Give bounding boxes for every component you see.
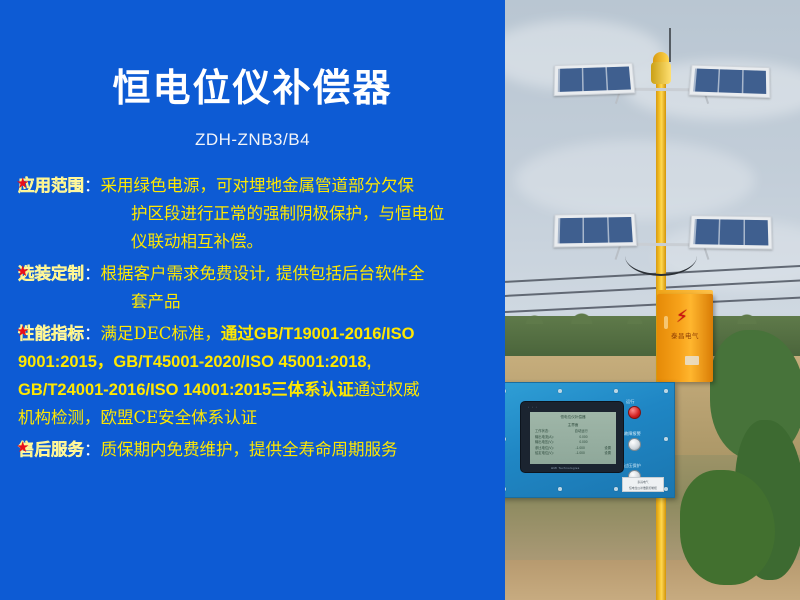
bullet-first-line: 应用范围：采用绿色电源，可对埋地金属管道部分欠保	[18, 172, 483, 200]
hmi-brand-label: HMI Technologies	[551, 466, 580, 470]
standard-text: 9001:2015，GB/T45001-2020/ISO 45001:2018,	[18, 348, 483, 376]
hmi-touchscreen[interactable]: • • • 恒电位仪补偿器 主界面 工作状态： 自动运行 输出电流(A)： 0.…	[520, 401, 624, 473]
bullet-text: 采用绿色电源，可对埋地金属管道部分欠保	[101, 176, 415, 195]
bullet-colon: ：	[84, 324, 101, 343]
product-photo: ⚡ 泰昌电气 • • • 恒电位仪补偿器 主界面	[505, 0, 800, 600]
nameplate-line-2: 恒电位仪补偿器控制柜	[623, 484, 663, 490]
solar-panel	[689, 65, 771, 98]
solar-cells	[693, 68, 766, 93]
panel-screw	[558, 389, 562, 393]
bullet-text: 护区段进行正常的强制阴极保护，与恒电位	[18, 200, 483, 228]
indicator-lamp-run[interactable]	[628, 406, 641, 419]
page-title: 恒电位仪补偿器	[0, 70, 505, 108]
star-icon: ★	[16, 176, 29, 191]
hmi-subtitle: 主界面	[530, 420, 616, 428]
solar-panel	[553, 213, 637, 247]
feature-list: ★ 应用范围：采用绿色电源，可对埋地金属管道部分欠保 护区段进行正常的强制阴极保…	[0, 172, 505, 468]
indicator-lamp-fault[interactable]	[628, 438, 641, 451]
hmi-readout-value: -1.000	[575, 451, 584, 457]
blue-control-panel: • • • 恒电位仪补偿器 主界面 工作状态： 自动运行 输出电流(A)： 0.…	[505, 382, 675, 498]
solar-panel	[554, 63, 636, 96]
bullet-text: 机构检测，欧盟CE安全体系认证	[18, 404, 483, 432]
text-column: 恒电位仪补偿器 ZDH-ZNB3/B4 ★ 应用范围：采用绿色电源，可对埋地金属…	[0, 0, 505, 600]
equipment-nameplate: 泰昌电气 恒电位仪补偿器控制柜	[622, 477, 664, 492]
panel-screw	[505, 487, 506, 491]
bullet-text: 根据客户需求免费设计, 提供包括后台软件全	[101, 264, 425, 283]
bullet-wrap-line: GB/T24001-2016/ISO 14001:2015三体系认证通过权威	[18, 376, 483, 404]
cloud-shape	[515, 140, 755, 220]
cabinet-plate	[685, 356, 699, 365]
bullet-text: 满足DEC标准，	[101, 324, 221, 343]
solar-cells	[558, 217, 633, 243]
indicator-label: 故障报警	[624, 431, 641, 437]
indicator-label: 过压保护	[624, 463, 641, 469]
bullet-first-line: 性能指标：满足DEC标准，通过GB/T19001-2016/ISO	[18, 320, 483, 348]
panel-screw	[505, 437, 506, 441]
star-icon: ★	[16, 440, 29, 455]
list-item: ★ 选装定制：根据客户需求免费设计, 提供包括后台软件全 套产品	[0, 260, 505, 316]
bullet-colon: ：	[84, 176, 101, 195]
hmi-readout-action[interactable]: 设置	[604, 451, 611, 457]
antenna	[669, 28, 671, 62]
model-subtitle: ZDH-ZNB3/B4	[0, 130, 505, 150]
standard-text: GB/T24001-2016/ISO 14001:2015三体系认证	[18, 381, 354, 399]
hmi-readout-list: 工作状态： 自动运行 输出电流(A)： 0.000 输出电压(V)： 0.000	[530, 428, 616, 457]
orange-cabinet: ⚡ 泰昌电气	[657, 294, 713, 382]
hmi-bezel-dots: • • •	[528, 405, 538, 409]
bullet-text: 套产品	[18, 288, 483, 316]
panel-screw	[664, 389, 668, 393]
bullet-text: 仪联动相互补偿。	[18, 228, 483, 256]
list-item: ★ 售后服务：质保期内免费维护，提供全寿命周期服务	[0, 436, 505, 464]
hmi-title: 恒电位仪补偿器	[530, 412, 616, 420]
bullet-colon: ：	[84, 440, 101, 459]
product-poster: 恒电位仪补偿器 ZDH-ZNB3/B4 ★ 应用范围：采用绿色电源，可对埋地金属…	[0, 0, 800, 600]
hmi-display[interactable]: 恒电位仪补偿器 主界面 工作状态： 自动运行 输出电流(A)： 0.000	[530, 412, 616, 464]
list-item: ★ 应用范围：采用绿色电源，可对埋地金属管道部分欠保 护区段进行正常的强制阴极保…	[0, 172, 505, 256]
pole-hub	[651, 62, 671, 84]
solar-cells	[558, 66, 631, 91]
bullet-first-line: 售后服务：质保期内免费维护，提供全寿命周期服务	[18, 436, 483, 464]
bullet-text: 通过权威	[354, 380, 420, 399]
bullet-first-line: 选装定制：根据客户需求免费设计, 提供包括后台软件全	[18, 260, 483, 288]
bullet-colon: ：	[84, 264, 101, 283]
indicator-label: 运行	[626, 399, 634, 405]
solar-panel	[689, 215, 773, 249]
cabinet-latch	[664, 316, 668, 329]
panel-screw	[664, 487, 668, 491]
hmi-readout-label: 给定电位(V)：	[535, 451, 556, 457]
panel-screw	[558, 487, 562, 491]
star-icon: ★	[16, 324, 29, 339]
list-item: ★ 性能指标：满足DEC标准，通过GB/T19001-2016/ISO 9001…	[0, 320, 505, 432]
solar-cells	[693, 219, 768, 245]
star-icon: ★	[16, 264, 29, 279]
panel-screw	[614, 389, 618, 393]
standard-text: 通过GB/T19001-2016/ISO	[221, 325, 415, 343]
panel-screw	[505, 389, 506, 393]
panel-screw	[614, 487, 618, 491]
hmi-readout-row: 给定电位(V)： -1.000 设置	[535, 451, 611, 457]
panel-screw	[664, 437, 668, 441]
bullet-text: 质保期内免费维护，提供全寿命周期服务	[101, 440, 398, 459]
lightning-bolt-icon: ⚡	[676, 308, 688, 325]
cabinet-brand-label: 泰昌电气	[657, 330, 713, 340]
